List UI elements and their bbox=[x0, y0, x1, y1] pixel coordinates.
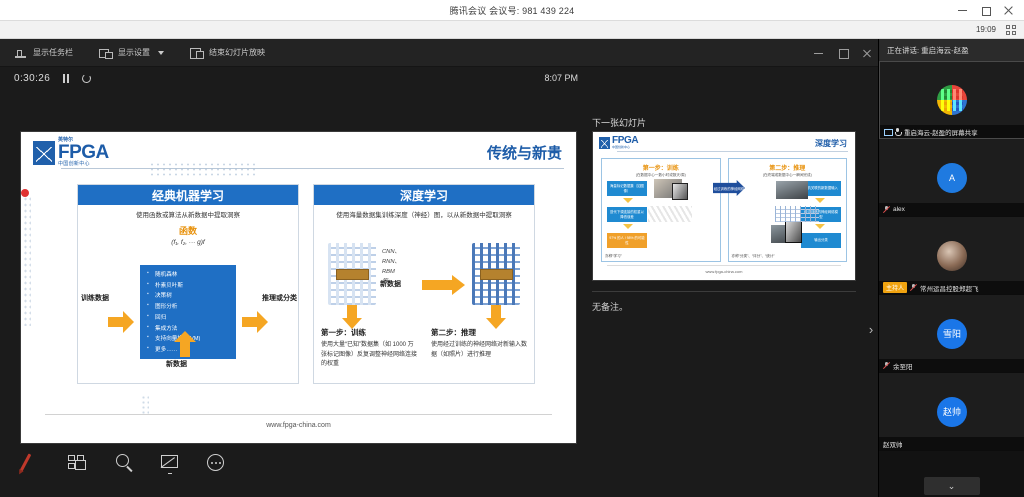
screen-share-icon bbox=[884, 128, 891, 135]
classic-ml-diagram: 训练数据 随机森林 朴素贝叶斯 决策树 图形分析 回归 集成方法 bbox=[78, 263, 298, 371]
inference-photo-crop bbox=[785, 221, 802, 243]
classic-ml-heading: 经典机器学习 bbox=[78, 185, 298, 205]
more-options-icon bbox=[207, 454, 224, 471]
mic-off-icon bbox=[883, 362, 890, 369]
minimize-icon[interactable] bbox=[957, 5, 968, 16]
next-col-inference: 第二步：推理 (在终端或数据中心一瞬间完成) 随机关联的新数据输入 经过训练的神… bbox=[728, 158, 848, 262]
deep-learning-subtitle: 使用海量数据集训练深度（神经）图，以从新数据中提取洞察 bbox=[314, 205, 534, 221]
participant-name-bar: 余至阳 bbox=[879, 359, 1024, 372]
arrow-down-train-icon bbox=[342, 305, 362, 329]
notes-text: 无备注。 bbox=[592, 300, 856, 313]
presenter-window-controls bbox=[814, 39, 872, 67]
all-slides-icon bbox=[68, 455, 88, 471]
slide-title: 传统与新贵 bbox=[487, 142, 562, 163]
new-data-label-right: 新数据 bbox=[380, 279, 401, 289]
show-taskbar-button[interactable]: 显示任务栏 bbox=[14, 47, 73, 59]
next-chip: 输出分类 bbox=[801, 233, 841, 248]
logo-main-text: FPGA bbox=[58, 143, 109, 162]
next-infer-caption: 亦称“分类”、“评分”、“统计” bbox=[732, 254, 775, 259]
end-show-icon bbox=[190, 47, 203, 59]
deep-learning-steps: 第一步：训练 使用大量“已知”数据集（如 1000 万张标记图像）反复调整神经网… bbox=[314, 327, 534, 370]
presenter-toolbar: 显示任务栏 显示设置 结束幻灯片放映 bbox=[0, 39, 878, 67]
next-slide-preview[interactable]: FPGA 中国创新中心 深度学习 第一步：训练 (在数据中心一数小时或数天/周)… bbox=[592, 131, 856, 281]
mic-off-icon bbox=[910, 284, 917, 291]
neural-mesh-graphic bbox=[775, 206, 819, 222]
zoom-tool-button[interactable] bbox=[110, 449, 138, 477]
end-slideshow-button[interactable]: 结束幻灯片放映 bbox=[190, 47, 265, 59]
annotation-toolbar bbox=[18, 449, 230, 477]
recording-indicator-icon bbox=[21, 189, 29, 197]
neural-net-left-icon bbox=[328, 243, 376, 305]
slide-canvas: 英特尔 FPGA 中国创新中心 传统与新贵 经典机器学习 使用函数或算法从新数据… bbox=[21, 132, 576, 443]
list-item: 图形分析 bbox=[146, 302, 232, 313]
deep-learning-heading: 深度学习 bbox=[314, 185, 534, 205]
arrow-up-icon bbox=[174, 331, 196, 357]
inference-photo bbox=[776, 181, 808, 199]
presenter-close-icon[interactable] bbox=[862, 48, 872, 58]
active-speaker-banner: 正在讲话: 重启海云-赵盈 bbox=[879, 39, 1024, 61]
function-label: 函数 bbox=[78, 224, 298, 237]
maximize-icon[interactable] bbox=[980, 5, 991, 16]
avatar: 赵帅 bbox=[937, 397, 967, 427]
pause-icon[interactable] bbox=[62, 74, 70, 83]
list-item: 随机森林 bbox=[146, 270, 232, 281]
chevron-down-icon bbox=[815, 224, 825, 229]
presenter-minimize-icon[interactable] bbox=[814, 48, 824, 58]
next-slide-title: 深度学习 bbox=[815, 138, 847, 149]
mic-icon bbox=[894, 128, 901, 135]
next-train-subtitle: (在数据中心一数小时或数天/周) bbox=[602, 173, 720, 178]
black-screen-icon bbox=[161, 455, 178, 468]
next-train-caption: 亦称“学习” bbox=[605, 254, 622, 259]
timer-controls bbox=[62, 74, 91, 83]
step-infer-desc: 使用经过训练的神经网络对新输入数据（如照片）进行推理 bbox=[431, 341, 527, 360]
participants-sidebar: 正在讲话: 重启海云-赵盈 重启海云-赵盈的屏幕共享 A alex 主持人 常州… bbox=[878, 39, 1024, 497]
window-controls bbox=[957, 0, 1020, 21]
deep-learning-panel: 深度学习 使用海量数据集训练深度（神经）图，以从新数据中提取洞察 CNN、 RN… bbox=[313, 184, 535, 384]
all-slides-button[interactable] bbox=[64, 449, 92, 477]
next-infer-title: 第二步：推理 bbox=[729, 163, 847, 172]
next-slide-body: 第一步：训练 (在数据中心一数小时或数天/周) 海量标记数据集（如图像） 迭代下… bbox=[601, 158, 847, 262]
show-taskbar-label: 显示任务栏 bbox=[33, 47, 73, 58]
new-data-label-left: 新数据 bbox=[166, 359, 187, 369]
meeting-toolbar-strip: 19:09 bbox=[0, 21, 1024, 39]
next-slide-footer: www.fpga-china.com bbox=[607, 265, 841, 274]
list-item: 朴素贝叶斯 bbox=[146, 281, 232, 292]
logo-mark-icon bbox=[33, 141, 55, 165]
next-chip-accuracy: 97% 的人 / 98% 的可能性 bbox=[607, 233, 647, 248]
display-settings-icon bbox=[99, 47, 112, 59]
host-badge: 主持人 bbox=[883, 282, 907, 293]
presenter-maximize-icon[interactable] bbox=[838, 48, 848, 58]
logo-bottom-text: 中国创新中心 bbox=[58, 162, 109, 167]
header-rule bbox=[61, 168, 564, 169]
next-slide-header: FPGA 中国创新中心 深度学习 bbox=[593, 132, 855, 154]
next-logo-mark-icon bbox=[599, 137, 610, 149]
next-slide-logo: FPGA 中国创新中心 bbox=[599, 136, 638, 149]
participant-name: 余至阳 bbox=[893, 361, 913, 371]
notes-pane: 无备注。 bbox=[592, 291, 856, 313]
participant-name-bar: 主持人 常州运昌控股郑超飞 bbox=[879, 281, 1024, 294]
pen-icon bbox=[20, 453, 32, 471]
participant-tile[interactable]: 赵帅 赵双帅 bbox=[879, 373, 1024, 451]
pen-tool-button[interactable] bbox=[18, 449, 46, 477]
chevron-down-icon bbox=[623, 198, 633, 203]
participant-name-bar: alex bbox=[879, 203, 1024, 216]
participant-tile[interactable]: 雪阳 余至阳 bbox=[879, 295, 1024, 373]
function-formula: (f₁, f₂, ··· g)f bbox=[78, 239, 298, 246]
chevron-down-icon bbox=[623, 224, 633, 229]
participant-name: 赵双帅 bbox=[883, 439, 903, 449]
black-screen-button[interactable] bbox=[156, 449, 184, 477]
arrow-right-flow-icon bbox=[422, 275, 466, 295]
step-infer-title: 第二步：推理 bbox=[431, 327, 527, 338]
deep-learning-diagram: CNN、 RNN、 RBM 等 新数据 bbox=[314, 243, 534, 307]
training-photo-crop bbox=[672, 183, 688, 200]
dot-pattern-decoration bbox=[149, 162, 257, 178]
avatar bbox=[937, 241, 967, 271]
next-slide-label: 下一张幻灯片 bbox=[592, 116, 646, 129]
inference-label: 推理或分类 bbox=[262, 293, 297, 303]
window-title: 腾讯会议 会议号: 981 439 224 bbox=[450, 4, 575, 17]
participant-name-bar: 赵双帅 bbox=[879, 437, 1024, 450]
next-col-training: 第一步：训练 (在数据中心一数小时或数天/周) 海量标记数据集（如图像） 迭代下… bbox=[601, 158, 721, 262]
participant-name-bar: 重启海云-赵盈的屏幕共享 bbox=[880, 125, 1024, 138]
list-item: 决策树 bbox=[146, 291, 232, 302]
notes-divider bbox=[592, 291, 856, 292]
neural-net-right-icon bbox=[472, 243, 520, 305]
next-slide-chevron-icon[interactable]: › bbox=[866, 321, 876, 337]
screen-share-thumbnail bbox=[937, 85, 967, 115]
participant-name: 常州运昌控股郑超飞 bbox=[920, 283, 979, 293]
step-infer: 第二步：推理 使用经过训练的神经网络对新输入数据（如照片）进行推理 bbox=[424, 327, 534, 370]
timer-row: 0:30:26 8:07 PM bbox=[0, 67, 878, 89]
close-icon[interactable] bbox=[1003, 5, 1014, 16]
list-item: 回归 bbox=[146, 313, 232, 324]
display-settings-button[interactable]: 显示设置 bbox=[99, 47, 164, 59]
step-train: 第一步：训练 使用大量“已知”数据集（如 1000 万张标记图像）反复调整神经网… bbox=[314, 327, 424, 370]
classic-ml-subtitle: 使用函数或算法从新数据中提取洞察 bbox=[78, 205, 298, 221]
show-more-participants-button[interactable]: ⌄ bbox=[924, 477, 980, 495]
participant-tile[interactable]: 主持人 常州运昌控股郑超飞 bbox=[879, 217, 1024, 295]
chevron-down-icon bbox=[158, 51, 164, 55]
classic-ml-panel: 经典机器学习 使用函数或算法从新数据中提取洞察 函数 (f₁, f₂, ··· … bbox=[77, 184, 299, 384]
fullscreen-icon[interactable] bbox=[1006, 25, 1016, 35]
current-slide[interactable]: 英特尔 FPGA 中国创新中心 传统与新贵 经典机器学习 使用函数或算法从新数据… bbox=[20, 131, 577, 444]
avatar: A bbox=[937, 163, 967, 193]
fpga-logo: 英特尔 FPGA 中国创新中心 bbox=[33, 138, 109, 167]
arrow-down-infer-icon bbox=[486, 305, 506, 329]
participant-tile[interactable]: 重启海云-赵盈的屏幕共享 bbox=[879, 61, 1024, 139]
display-settings-label: 显示设置 bbox=[118, 47, 150, 58]
step-train-desc: 使用大量“已知”数据集（如 1000 万张标记图像）反复调整神经网络连接的权重 bbox=[321, 341, 417, 370]
wave-graphic bbox=[648, 206, 692, 222]
more-options-button[interactable] bbox=[202, 449, 230, 477]
next-train-title: 第一步：训练 bbox=[602, 163, 720, 172]
next-chip: 海量标记数据集（如图像） bbox=[607, 181, 647, 196]
next-logo-bottom: 中国创新中心 bbox=[612, 146, 638, 149]
window-titlebar: 腾讯会议 会议号: 981 439 224 bbox=[0, 0, 1024, 21]
wall-clock: 8:07 PM bbox=[544, 73, 578, 83]
avatar: 雪阳 bbox=[937, 319, 967, 349]
bottom-dot-decoration bbox=[141, 395, 149, 415]
participant-tile[interactable]: A alex bbox=[879, 139, 1024, 217]
next-infer-subtitle: (在终端或数据中心一瞬间完成) bbox=[729, 173, 847, 178]
chevron-down-icon bbox=[815, 198, 825, 203]
end-slideshow-label: 结束幻灯片放映 bbox=[209, 47, 265, 58]
slide-header: 英特尔 FPGA 中国创新中心 传统与新贵 bbox=[21, 132, 576, 172]
training-data-label: 训练数据 bbox=[81, 293, 109, 303]
magnifier-icon bbox=[116, 454, 129, 467]
left-dot-decoration bbox=[23, 196, 31, 326]
presenter-view: 显示任务栏 显示设置 结束幻灯片放映 0:30:26 bbox=[0, 39, 878, 497]
arrow-right-in-icon bbox=[108, 311, 134, 333]
restart-icon[interactable] bbox=[81, 73, 91, 83]
participant-name: alex bbox=[893, 206, 905, 213]
elapsed-timer: 0:30:26 bbox=[14, 73, 50, 84]
step-train-title: 第一步：训练 bbox=[321, 327, 417, 338]
next-chip: 迭代下调连接的权重以降低误差 bbox=[607, 207, 647, 222]
taskbar-icon bbox=[14, 47, 27, 59]
app-root: 腾讯会议 会议号: 981 439 224 19:09 显示任务栏 显示设置 bbox=[0, 0, 1024, 497]
slide-footer-url: www.fpga-china.com bbox=[45, 414, 552, 429]
arrow-right-out-icon bbox=[242, 311, 268, 333]
next-header-rule bbox=[617, 151, 848, 152]
system-clock: 19:09 bbox=[976, 25, 996, 34]
mic-off-icon bbox=[883, 206, 890, 213]
participant-name: 重启海云-赵盈的屏幕共享 bbox=[904, 127, 978, 137]
